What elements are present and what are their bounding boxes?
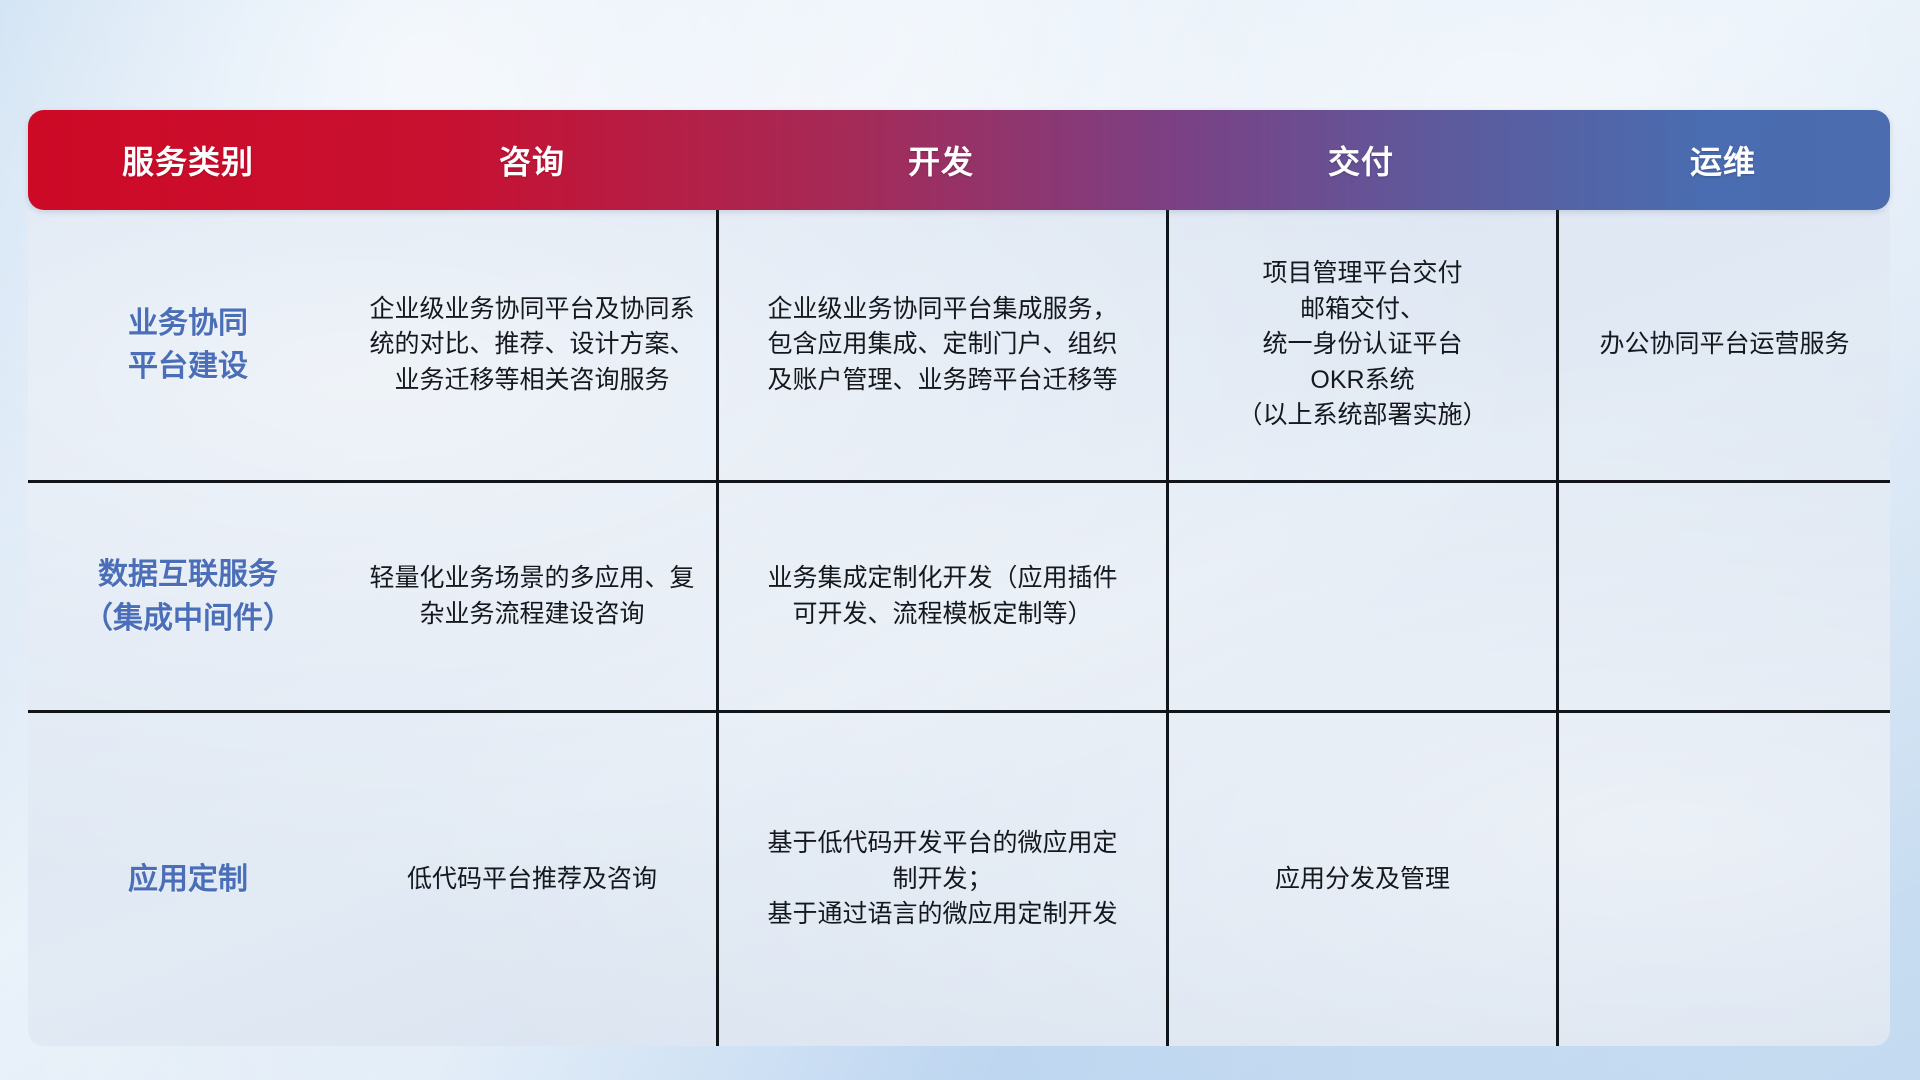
- column-header-category: 服务类别: [28, 110, 348, 210]
- service-matrix-table: 服务类别 咨询 开发 交付 运维 业务协同 平台建设 企业级业务协同平台及协同系…: [28, 110, 1890, 1046]
- cell-category: 业务协同 平台建设: [28, 210, 348, 480]
- table-body: 业务协同 平台建设 企业级业务协同平台及协同系 统的对比、推荐、设计方案、 业务…: [28, 210, 1890, 1046]
- cell-consulting: 企业级业务协同平台及协同系 统的对比、推荐、设计方案、 业务迁移等相关咨询服务: [348, 210, 716, 480]
- column-header-development: 开发: [716, 110, 1166, 210]
- cell-operations: 办公协同平台运营服务: [1556, 210, 1890, 480]
- cell-development: 基于低代码开发平台的微应用定 制开发； 基于通过语言的微应用定制开发: [716, 713, 1166, 1046]
- cell-delivery: 应用分发及管理: [1166, 713, 1556, 1046]
- cell-category: 应用定制: [28, 713, 348, 1046]
- table-row: 应用定制 低代码平台推荐及咨询 基于低代码开发平台的微应用定 制开发； 基于通过…: [28, 710, 1890, 1046]
- cell-delivery: 项目管理平台交付 邮箱交付、 统一身份认证平台 OKR系统 （以上系统部署实施）: [1166, 210, 1556, 480]
- cell-consulting: 低代码平台推荐及咨询: [348, 713, 716, 1046]
- table-row: 数据互联服务 （集成中间件） 轻量化业务场景的多应用、复 杂业务流程建设咨询 业…: [28, 480, 1890, 710]
- cell-delivery: [1166, 483, 1556, 710]
- column-header-delivery: 交付: [1166, 110, 1556, 210]
- cell-consulting: 轻量化业务场景的多应用、复 杂业务流程建设咨询: [348, 483, 716, 710]
- table-row: 业务协同 平台建设 企业级业务协同平台及协同系 统的对比、推荐、设计方案、 业务…: [28, 210, 1890, 480]
- cell-development: 业务集成定制化开发（应用插件 可开发、流程模板定制等）: [716, 483, 1166, 710]
- cell-category: 数据互联服务 （集成中间件）: [28, 483, 348, 710]
- column-header-consulting: 咨询: [348, 110, 716, 210]
- table-header-row: 服务类别 咨询 开发 交付 运维: [28, 110, 1890, 210]
- cell-operations: [1556, 483, 1890, 710]
- cell-operations: [1556, 713, 1890, 1046]
- column-header-operations: 运维: [1556, 110, 1890, 210]
- slide-canvas: 服务类别 咨询 开发 交付 运维 业务协同 平台建设 企业级业务协同平台及协同系…: [0, 0, 1920, 1080]
- cell-development: 企业级业务协同平台集成服务， 包含应用集成、定制门户、组织 及账户管理、业务跨平…: [716, 210, 1166, 480]
